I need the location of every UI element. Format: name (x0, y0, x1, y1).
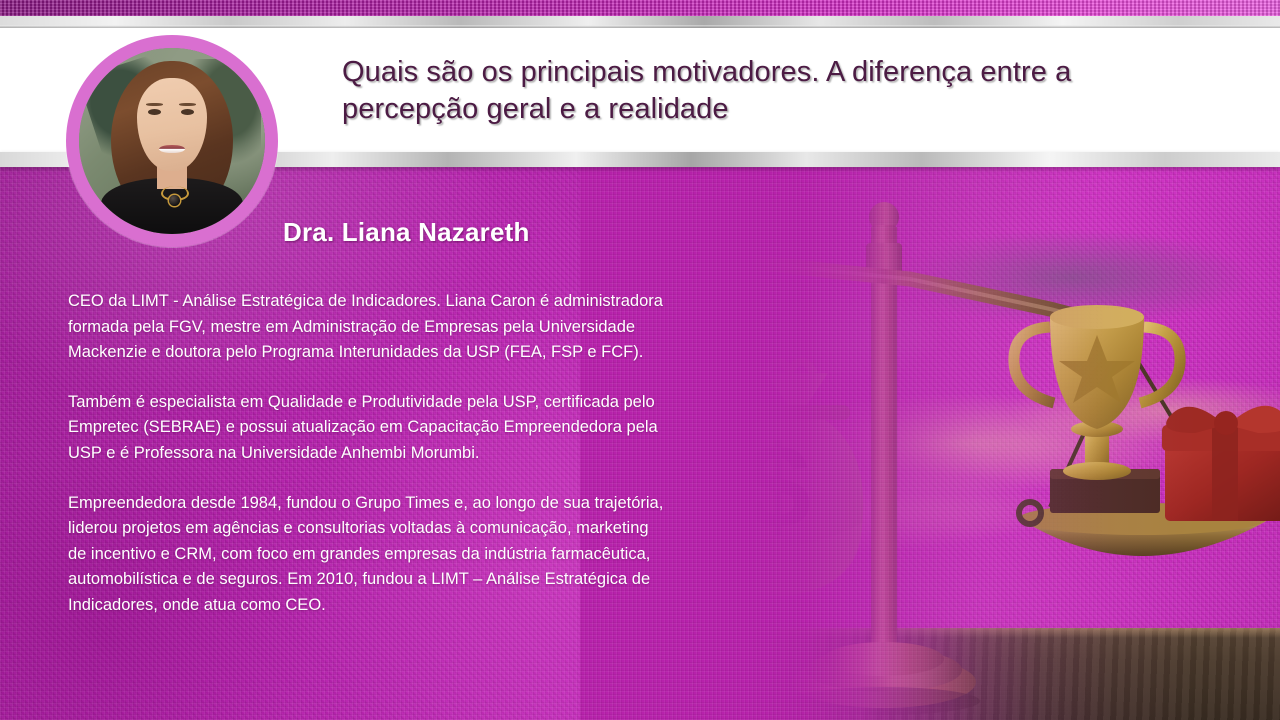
bio-paragraph: CEO da LIMT - Análise Estratégica de Ind… (68, 289, 668, 366)
avatar-photo (79, 48, 265, 234)
avatar-mouth (159, 145, 185, 153)
bio-paragraph: Empreendedora desde 1984, fundou o Grupo… (68, 491, 668, 619)
speaker-name: Dra. Liana Nazareth (283, 217, 530, 248)
avatar (66, 35, 278, 247)
top-decorative-band (0, 0, 1280, 16)
speaker-bio: CEO da LIMT - Análise Estratégica de Ind… (68, 289, 668, 619)
avatar-eyebrow-left (146, 103, 163, 106)
top-steel-strip (0, 16, 1280, 28)
bio-paragraph: Também é especialista em Qualidade e Pro… (68, 390, 668, 467)
page-title: Quais são os principais motivadores. A d… (342, 54, 1142, 128)
slide-canvas: $ Quais são os principais motivadores. A… (0, 0, 1280, 720)
magenta-overlay-texture (580, 167, 1280, 720)
